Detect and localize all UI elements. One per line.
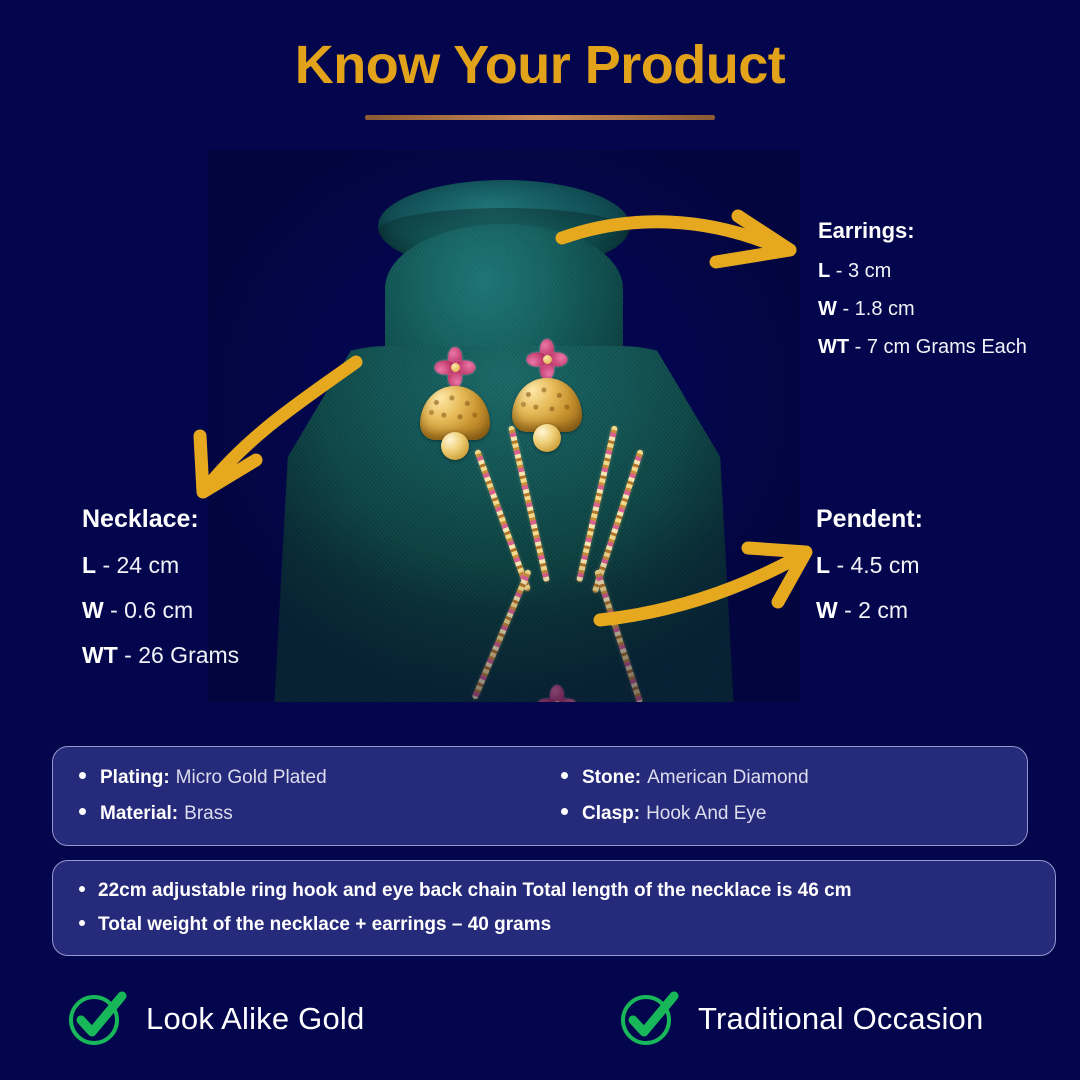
bullet-icon (79, 772, 86, 779)
callout-pendant-row-width: W - 2 cm (816, 597, 923, 624)
header: Know Your Product (0, 36, 1080, 120)
badge-label: Traditional Occasion (698, 1001, 983, 1037)
callout-earrings-row-length: L - 3 cm (818, 260, 1027, 283)
infographic-page: Know Your Product (0, 0, 1080, 1080)
callout-necklace-row-weight: WT - 26 Grams (82, 642, 239, 669)
bullet-icon (79, 920, 85, 926)
callout-pendant: Pendent: L - 4.5 cm W - 2 cm (816, 505, 923, 642)
callout-earrings: Earrings: L - 3 cm W - 1.8 cm WT - 7 cm … (818, 218, 1027, 374)
callout-earrings-title: Earrings: (818, 218, 1027, 244)
pendant-flower-icon (534, 684, 580, 702)
page-title: Know Your Product (0, 36, 1080, 95)
note-item-total-weight: Total weight of the necklace + earrings … (79, 914, 1029, 936)
product-photo (208, 150, 800, 702)
note-item-chain-length: 22cm adjustable ring hook and eye back c… (79, 880, 1029, 902)
jhumka-pearl-icon (441, 432, 469, 460)
callout-earrings-row-weight: WT - 7 cm Grams Each (818, 336, 1027, 359)
check-circle-icon (66, 990, 128, 1048)
badge-look-alike-gold: Look Alike Gold (66, 990, 364, 1048)
earring-right-icon (508, 338, 586, 468)
earring-left-icon (416, 346, 494, 476)
bullet-icon (79, 886, 85, 892)
title-underline (365, 115, 715, 120)
callout-necklace: Necklace: L - 24 cm W - 0.6 cm WT - 26 G… (82, 505, 239, 687)
specs-column-right: Stone: American Diamond Clasp: Hook And … (519, 763, 1001, 829)
earring-stud-icon (433, 346, 477, 388)
badge-label: Look Alike Gold (146, 1001, 364, 1037)
specs-column-left: Plating: Micro Gold Plated Material: Bra… (79, 763, 519, 829)
spec-item-plating: Plating: Micro Gold Plated (79, 767, 519, 789)
callout-necklace-row-length: L - 24 cm (82, 552, 239, 579)
callout-necklace-title: Necklace: (82, 505, 239, 534)
pendant-stud-icon (535, 684, 579, 702)
bullet-icon (561, 772, 568, 779)
callout-necklace-row-width: W - 0.6 cm (82, 597, 239, 624)
jhumka-pearl-icon (533, 424, 561, 452)
callout-pendant-title: Pendent: (816, 505, 923, 534)
bullet-icon (79, 808, 86, 815)
bullet-icon (561, 808, 568, 815)
earring-stud-icon (525, 338, 569, 380)
callout-pendant-row-length: L - 4.5 cm (816, 552, 923, 579)
specs-panel: Plating: Micro Gold Plated Material: Bra… (52, 746, 1028, 846)
callout-earrings-row-width: W - 1.8 cm (818, 298, 1027, 321)
spec-item-clasp: Clasp: Hook And Eye (561, 803, 1001, 825)
notes-panel: 22cm adjustable ring hook and eye back c… (52, 860, 1056, 956)
badge-traditional-occasion: Traditional Occasion (618, 990, 983, 1048)
spec-item-stone: Stone: American Diamond (561, 767, 1001, 789)
check-circle-icon (618, 990, 680, 1048)
spec-item-material: Material: Brass (79, 803, 519, 825)
